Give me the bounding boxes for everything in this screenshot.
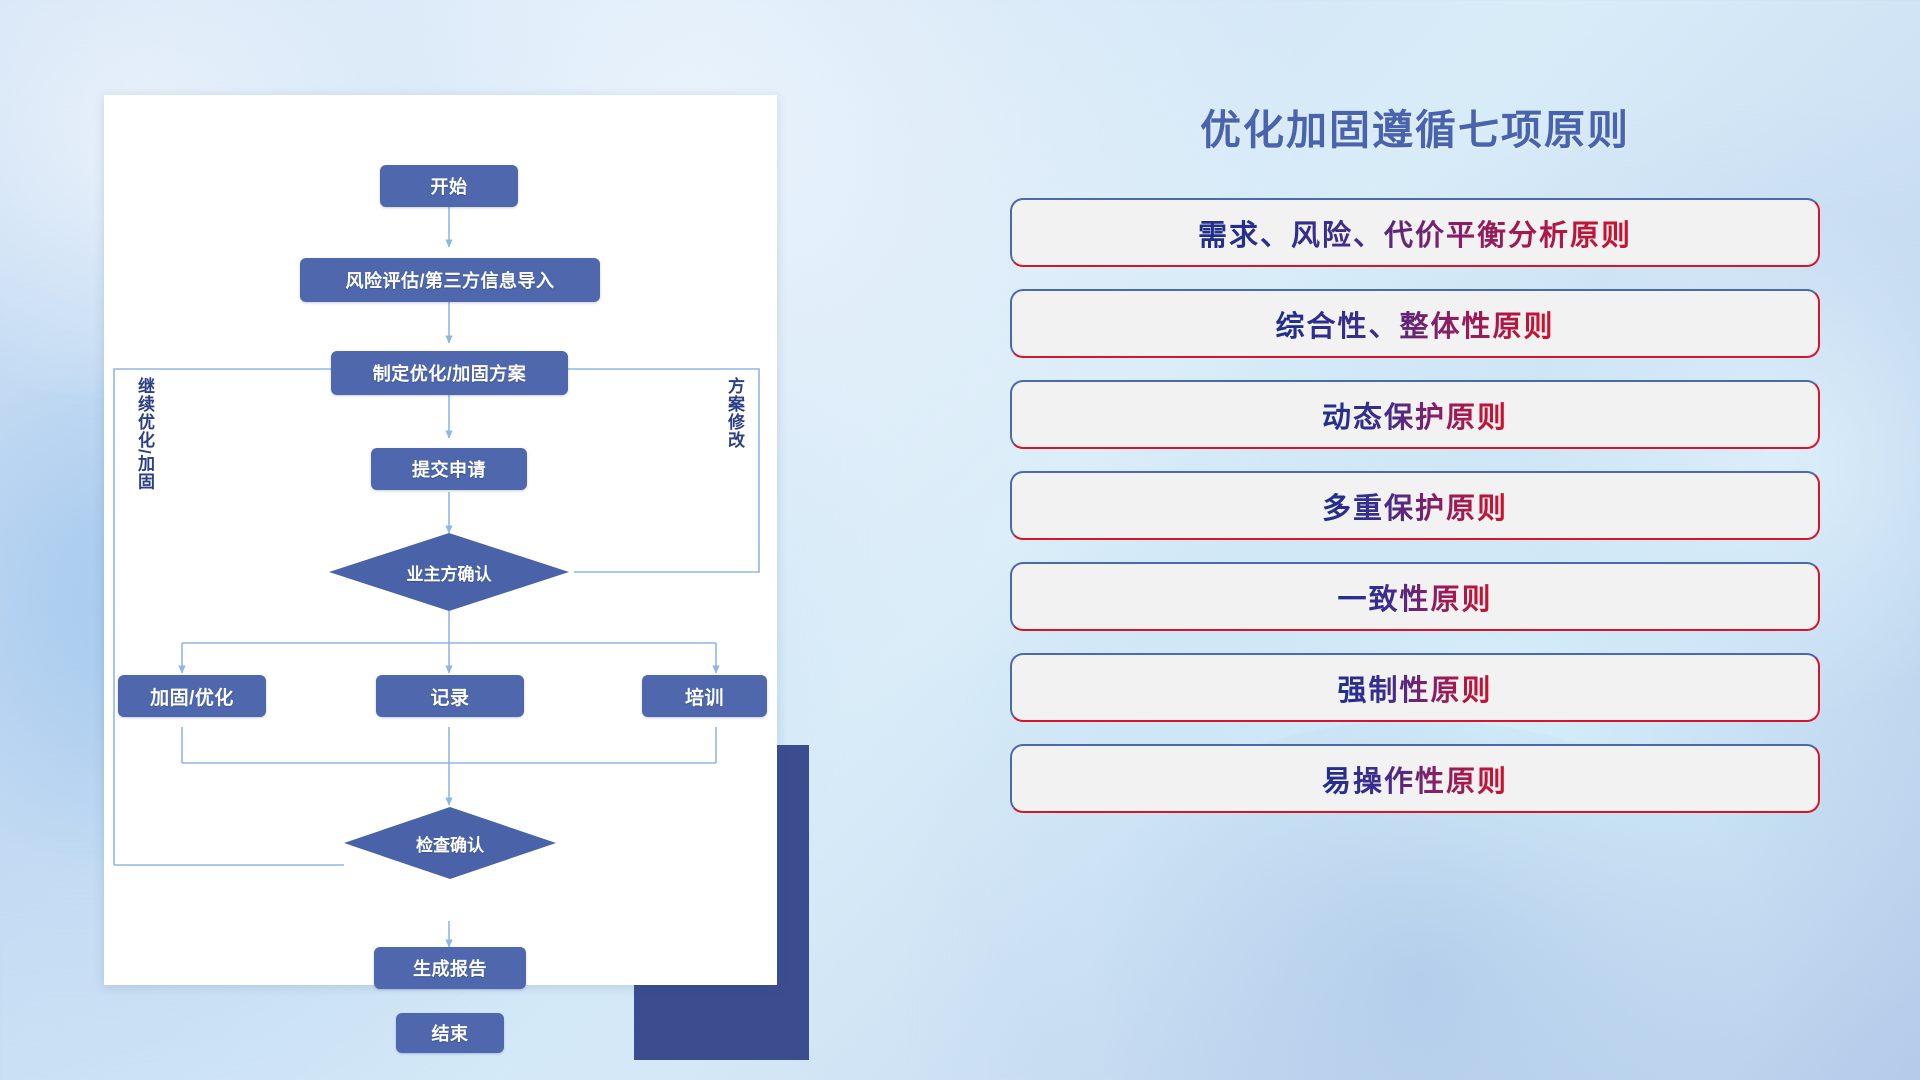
principle-item-2[interactable]: 综合性、整体性原则 <box>1010 289 1820 358</box>
flow-node-generate-report-label: 生成报告 <box>413 955 487 981</box>
flow-node-end[interactable]: 结束 <box>396 1013 504 1053</box>
flow-node-generate-report[interactable]: 生成报告 <box>374 947 526 989</box>
principle-item-3[interactable]: 动态保护原则 <box>1010 380 1820 449</box>
flow-node-end-label: 结束 <box>432 1020 469 1046</box>
principle-item-7[interactable]: 易操作性原则 <box>1010 744 1820 813</box>
flowchart-canvas: 开始 风险评估/第三方信息导入 制定优化/加固方案 提交申请 业主方确认 加固/… <box>104 95 777 985</box>
flow-node-reinforce-label: 加固/优化 <box>150 683 234 710</box>
flow-node-training[interactable]: 培训 <box>642 675 767 717</box>
principle-item-6[interactable]: 强制性原则 <box>1010 653 1820 722</box>
principle-item-4[interactable]: 多重保护原则 <box>1010 471 1820 540</box>
principle-item-7-label: 易操作性原则 <box>1322 758 1508 800</box>
principle-item-1[interactable]: 需求、风险、代价平衡分析原则 <box>1010 198 1820 267</box>
flow-node-submit-application[interactable]: 提交申请 <box>371 448 527 490</box>
flow-node-submit-application-label: 提交申请 <box>412 456 486 482</box>
flow-node-record-label: 记录 <box>430 683 469 710</box>
flow-node-plan[interactable]: 制定优化/加固方案 <box>331 351 568 395</box>
principle-item-1-label: 需求、风险、代价平衡分析原则 <box>1198 212 1632 254</box>
flow-node-start-label: 开始 <box>431 173 468 199</box>
principles-panel: 优化加固遵循七项原则 需求、风险、代价平衡分析原则 综合性、整体性原则 动态保护… <box>1010 96 1820 835</box>
flow-node-risk-assessment[interactable]: 风险评估/第三方信息导入 <box>300 258 600 302</box>
principle-item-5-label: 一致性原则 <box>1337 576 1492 618</box>
flowchart-card: 开始 风险评估/第三方信息导入 制定优化/加固方案 提交申请 业主方确认 加固/… <box>104 95 777 985</box>
principle-item-3-label: 动态保护原则 <box>1322 394 1508 436</box>
principle-item-4-label: 多重保护原则 <box>1322 485 1508 527</box>
flow-decision-inspection-confirm-label: 检查确认 <box>416 831 484 856</box>
flow-decision-owner-confirm-label: 业主方确认 <box>407 560 492 585</box>
flow-node-plan-label: 制定优化/加固方案 <box>373 360 527 386</box>
flow-node-start[interactable]: 开始 <box>380 165 518 207</box>
flow-node-training-label: 培训 <box>685 683 724 710</box>
principle-item-2-label: 综合性、整体性原则 <box>1275 303 1554 345</box>
flow-label-continue-optimize: 继续优化/加固 <box>134 377 154 491</box>
flow-node-risk-assessment-label: 风险评估/第三方信息导入 <box>346 267 555 293</box>
flow-label-plan-revision: 方案修改 <box>724 377 744 449</box>
flow-node-reinforce[interactable]: 加固/优化 <box>118 675 266 717</box>
flow-node-record[interactable]: 记录 <box>376 675 524 717</box>
flowchart-panel: 开始 风险评估/第三方信息导入 制定优化/加固方案 提交申请 业主方确认 加固/… <box>104 85 804 990</box>
principle-item-6-label: 强制性原则 <box>1337 667 1492 709</box>
principle-item-5[interactable]: 一致性原则 <box>1010 562 1820 631</box>
page-title: 优化加固遵循七项原则 <box>1010 96 1820 156</box>
